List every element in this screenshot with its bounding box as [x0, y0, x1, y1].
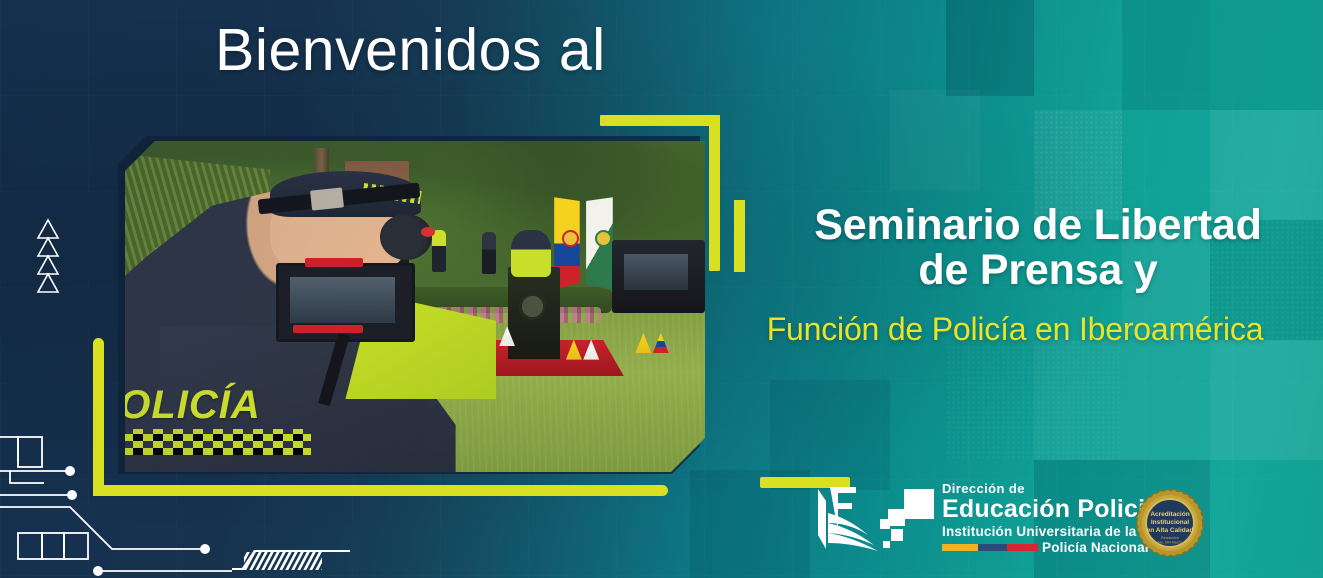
diagonal-hatch-icon: [232, 546, 350, 570]
accreditation-seal-icon: Acreditación Institucional en Alta Calid…: [1136, 489, 1204, 557]
title-line-1: Seminario de Libertad: [758, 203, 1318, 248]
photo-frame-top-right: [600, 115, 720, 271]
svg-text:en Alta Calidad: en Alta Calidad: [1147, 527, 1194, 534]
svg-text:No. 004 Marzo: No. 004 Marzo: [1158, 541, 1182, 545]
seminar-welcome-banner: OLICÍA Bienvenidos al Seminario de Liber…: [0, 0, 1323, 578]
svg-text:Acreditación: Acreditación: [1150, 511, 1189, 518]
logo-line-1: Dirección de: [942, 482, 1167, 495]
triangle-stack-icon: [27, 218, 69, 296]
pixel-squares-icon: [880, 487, 934, 549]
title-accent-bar: [734, 200, 745, 272]
logo-line-3: Institución Universitaria de la: [942, 525, 1167, 539]
page-title: Seminario de Libertad de Prensa y: [758, 203, 1318, 292]
page-subtitle: Función de Policía en Iberoamérica: [715, 312, 1315, 347]
svg-text:Institucional: Institucional: [1151, 519, 1189, 526]
title-line-2: de Prensa y: [758, 248, 1318, 293]
institution-logo: Dirección de Educación Policial Instituc…: [812, 478, 1167, 558]
svg-text:Resolución: Resolución: [1161, 536, 1179, 540]
welcome-heading: Bienvenidos al: [215, 20, 606, 82]
logo-line-2: Educación Policial: [942, 497, 1167, 522]
colombia-flag-bar: [942, 544, 1038, 551]
logo-line-4: Policía Nacional: [1042, 541, 1149, 555]
open-book-icon: [812, 483, 884, 553]
